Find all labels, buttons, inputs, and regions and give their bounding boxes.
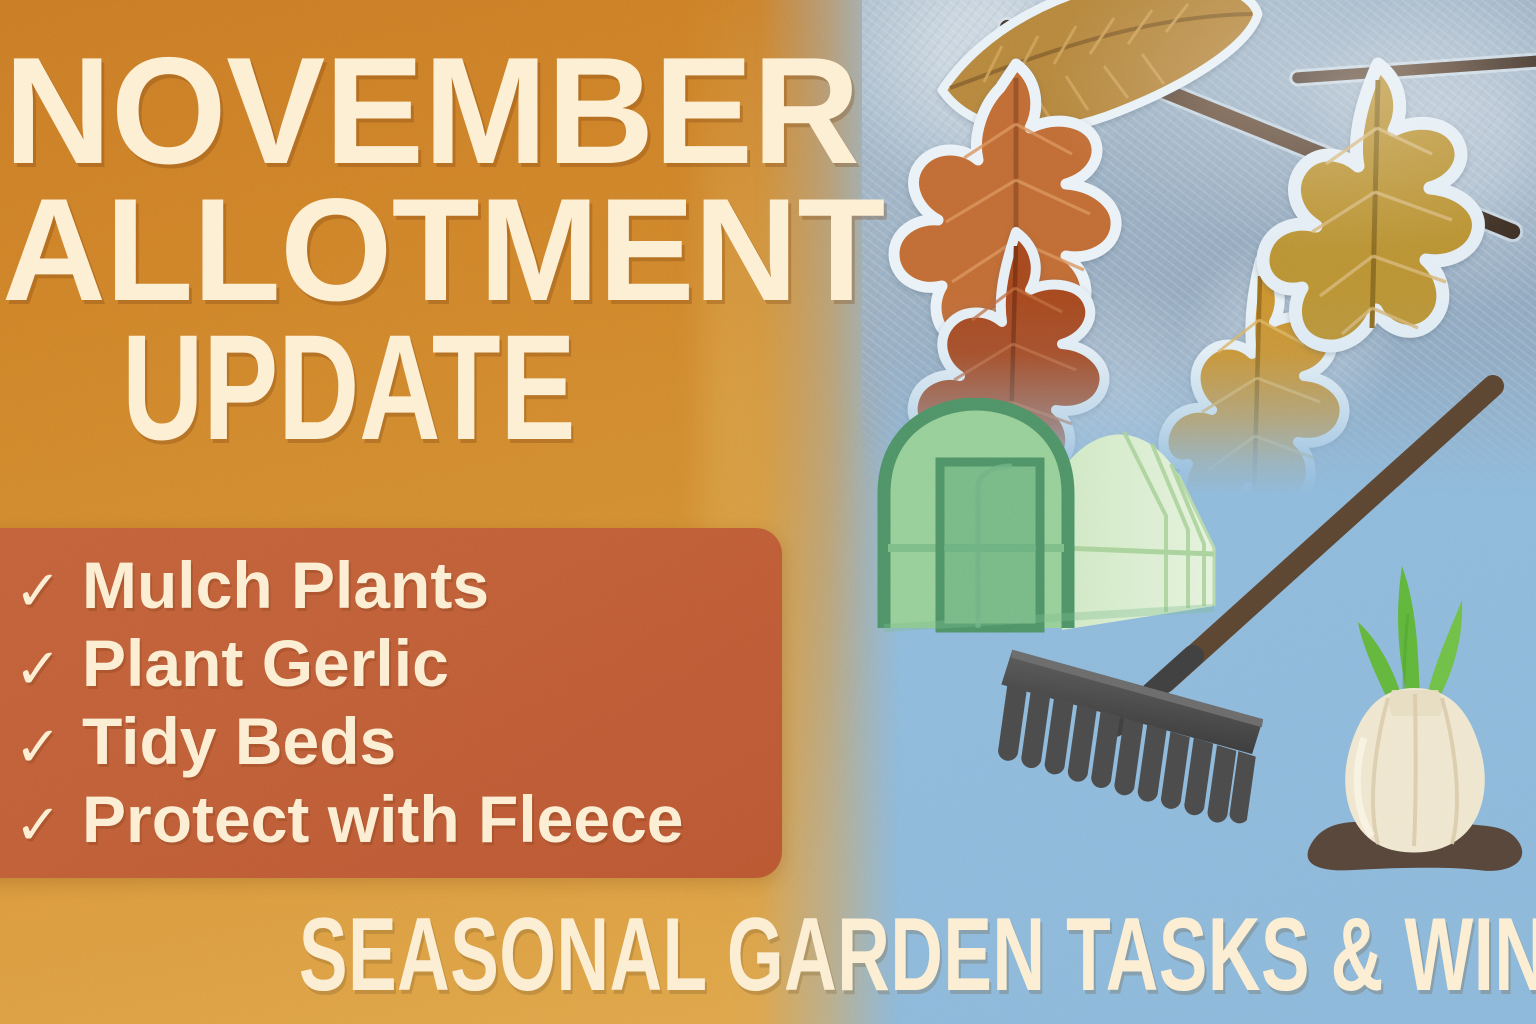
checklist-item-label: Protect with Fleece (82, 786, 684, 852)
checklist-item: ✓ Tidy Beds (12, 708, 782, 786)
check-icon: ✓ (12, 798, 64, 854)
checklist-item: ✓ Mulch Plants (12, 552, 782, 630)
headline-line-2: ALLOTMENT (2, 179, 828, 321)
checklist-item-label: Tidy Beds (82, 708, 396, 774)
checklist-item: ✓ Protect with Fleece (12, 786, 782, 864)
checklist-item-label: Plant Gerlic (82, 630, 449, 696)
banner-subtitle: SEASONAL GARDEN TASKS & WINTER TIPS (299, 903, 1536, 1007)
poster-canvas: NOVEMBER ALLOTMENT UPDATE ✓ Mulch Plants… (0, 0, 1536, 1024)
checklist-item-label: Mulch Plants (82, 552, 489, 618)
headline-line-3: UPDATE (122, 315, 662, 461)
check-icon: ✓ (12, 564, 64, 620)
garlic-bulb-illustration (1292, 548, 1536, 888)
checklist-card: ✓ Mulch Plants ✓ Plant Gerlic ✓ Tidy Bed… (0, 528, 782, 878)
checklist-item: ✓ Plant Gerlic (12, 630, 782, 708)
headline-line-1: NOVEMBER (4, 38, 822, 185)
garlic-shoots (1358, 566, 1462, 700)
page-title: NOVEMBER ALLOTMENT UPDATE (0, 38, 840, 461)
check-icon: ✓ (12, 642, 64, 698)
bottom-banner: SEASONAL GARDEN TASKS & WINTER TIPS (0, 886, 1536, 1024)
check-icon: ✓ (12, 720, 64, 776)
